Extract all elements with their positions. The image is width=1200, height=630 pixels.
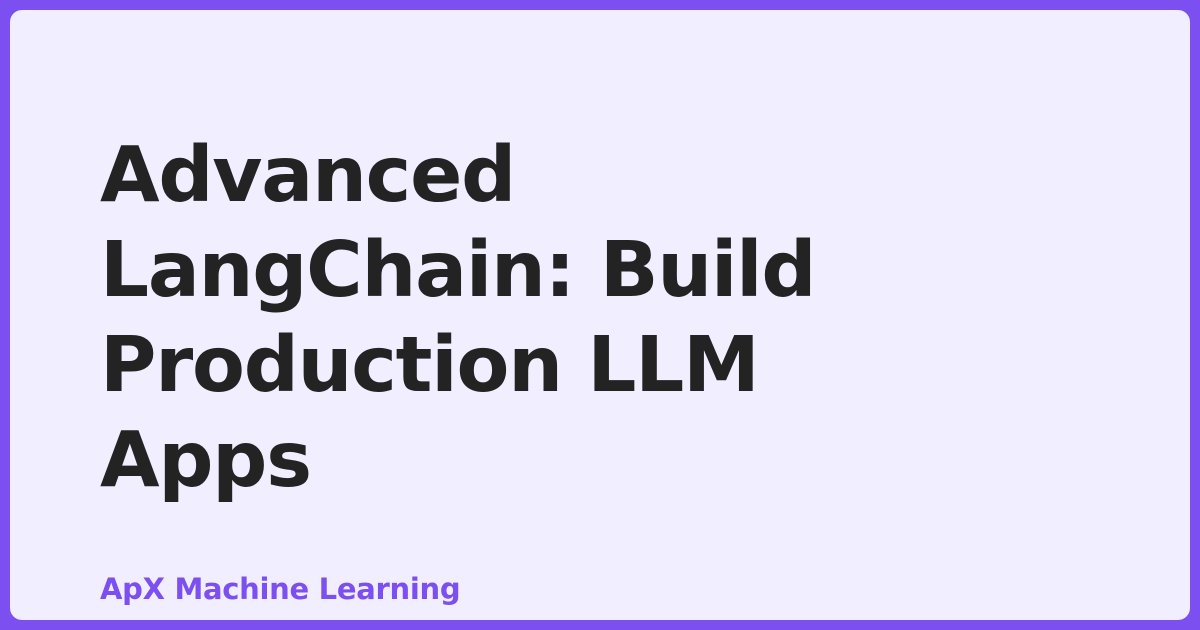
og-image-card: Advanced LangChain: Build Production LLM…: [0, 0, 1200, 630]
card-surface: Advanced LangChain: Build Production LLM…: [10, 10, 1190, 620]
page-title: Advanced LangChain: Build Production LLM…: [100, 128, 970, 508]
card-content: Advanced LangChain: Build Production LLM…: [100, 128, 980, 608]
brand-name: ApX Machine Learning: [100, 570, 980, 608]
